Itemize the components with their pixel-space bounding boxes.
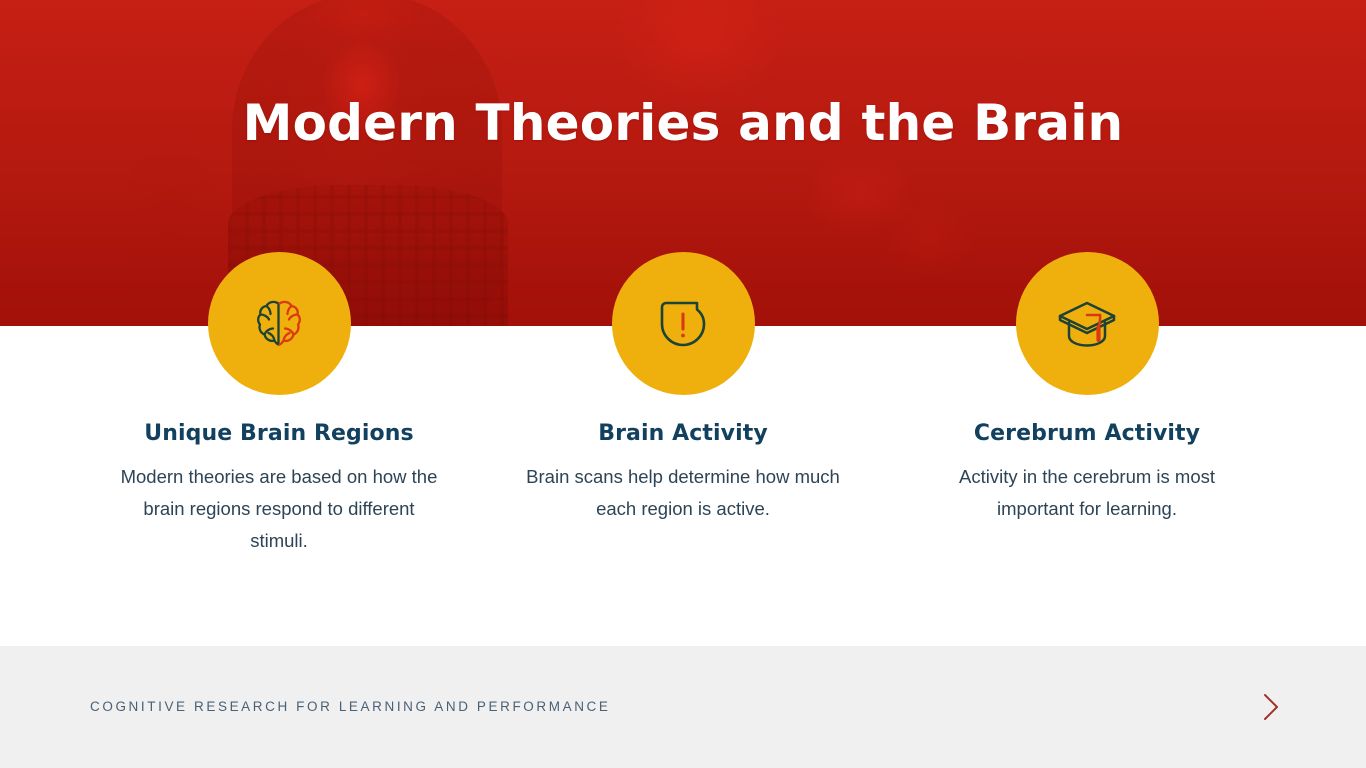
icon-circle-brain [208, 252, 351, 395]
feature-card-title: Unique Brain Regions [144, 421, 413, 446]
icon-circle-graduation [1016, 252, 1159, 395]
feature-card-row: Unique Brain Regions Modern theories are… [0, 252, 1366, 557]
feature-card-body: Modern theories are based on how the bra… [114, 461, 444, 557]
feature-card-body: Activity in the cerebrum is most importa… [922, 461, 1252, 525]
footer-tagline: Cognitive Research for Learning and Perf… [90, 699, 611, 714]
graduation-cap-icon [1054, 295, 1120, 353]
feature-card-title: Cerebrum Activity [974, 421, 1200, 446]
page-title: Modern Theories and the Brain [0, 94, 1366, 152]
chevron-right-icon [1261, 692, 1281, 727]
feature-card-body: Brain scans help determine how much each… [518, 461, 848, 525]
feature-card-title: Brain Activity [598, 421, 768, 446]
feature-card-unique-brain-regions[interactable]: Unique Brain Regions Modern theories are… [77, 252, 481, 557]
next-slide-button[interactable] [1252, 690, 1290, 728]
slide-root: Modern Theories and the Brain [0, 0, 1366, 768]
feature-card-cerebrum-activity[interactable]: Cerebrum Activity Activity in the cerebr… [885, 252, 1289, 557]
feature-card-brain-activity[interactable]: Brain Activity Brain scans help determin… [481, 252, 885, 557]
alert-speech-bubble-icon [652, 293, 714, 355]
icon-circle-alert [612, 252, 755, 395]
brain-icon [249, 294, 309, 354]
